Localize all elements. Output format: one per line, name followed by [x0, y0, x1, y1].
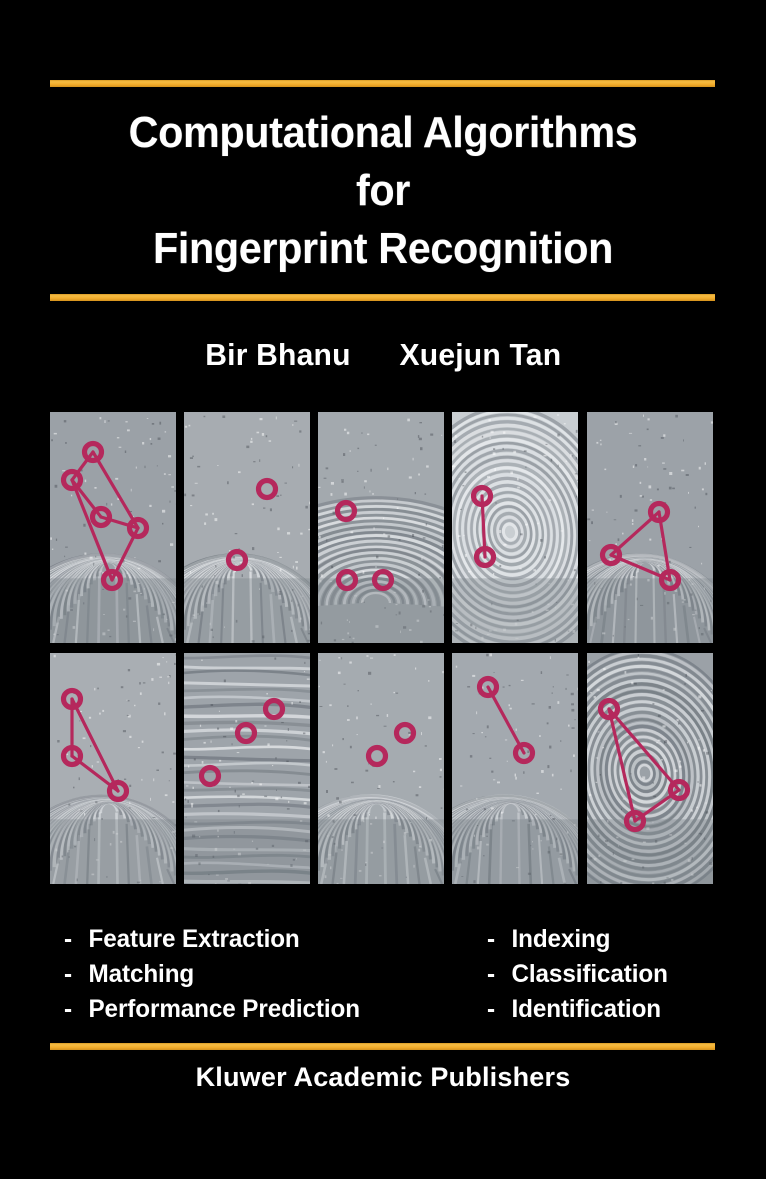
fingerprint-ridge-image: [318, 653, 444, 884]
author-line: Bir BhanuXuejun Tan: [0, 337, 766, 373]
fingerprint-panel: [184, 412, 310, 643]
topic-item: -Classification: [487, 957, 668, 992]
title-line-2: for: [23, 162, 743, 220]
fingerprint-ridge-image: [50, 653, 176, 884]
fingerprint-panel: [318, 653, 444, 884]
topic-column-right: -Indexing -Classification -Identificatio…: [487, 922, 673, 1027]
topic-item: -Performance Prediction: [64, 992, 360, 1027]
topic-item: -Feature Extraction: [64, 922, 360, 957]
fingerprint-image-grid: [50, 412, 713, 884]
topic-label: Performance Prediction: [88, 995, 359, 1023]
topic-label: Identification: [511, 995, 661, 1023]
gold-rule-bottom: [50, 1043, 715, 1050]
bullet-dash: -: [64, 925, 72, 953]
gold-rule-middle: [50, 294, 715, 301]
publisher-name: Kluwer Academic Publishers: [0, 1062, 766, 1093]
fingerprint-ridge-image: [452, 653, 578, 884]
topic-label: Classification: [511, 960, 667, 988]
fingerprint-panel: [318, 412, 444, 643]
title-line-1: Computational Algorithms: [23, 104, 743, 162]
fingerprint-ridge-image: [587, 653, 713, 884]
fingerprint-panel: [587, 653, 713, 884]
fingerprint-panel: [452, 653, 578, 884]
topic-label: Matching: [88, 960, 194, 988]
topic-label: Indexing: [511, 925, 610, 953]
bullet-dash: -: [64, 995, 72, 1023]
gold-rule-top: [50, 80, 715, 87]
fingerprint-ridge-image: [184, 412, 310, 643]
fingerprint-ridge-image: [452, 412, 578, 643]
fingerprint-ridge-image: [50, 412, 176, 643]
bullet-dash: -: [487, 925, 495, 953]
fingerprint-row-top: [50, 412, 713, 643]
fingerprint-panel: [587, 412, 713, 643]
bullet-dash: -: [487, 960, 495, 988]
fingerprint-ridge-image: [184, 653, 310, 884]
fingerprint-panel: [50, 653, 176, 884]
topic-label: Feature Extraction: [88, 925, 299, 953]
fingerprint-panel: [452, 412, 578, 643]
topic-list: -Feature Extraction -Matching -Performan…: [0, 922, 766, 1032]
title-line-3: Fingerprint Recognition: [23, 220, 743, 278]
fingerprint-ridge-image: [318, 412, 444, 643]
fingerprint-panel: [184, 653, 310, 884]
topic-item: -Matching: [64, 957, 360, 992]
topic-item: -Identification: [487, 992, 668, 1027]
topic-column-left: -Feature Extraction -Matching -Performan…: [64, 922, 369, 1027]
author-name-second: Xuejun Tan: [399, 337, 561, 373]
topic-item: -Indexing: [487, 922, 668, 957]
fingerprint-row-bottom: [50, 653, 713, 884]
book-title: Computational Algorithms for Fingerprint…: [0, 104, 766, 278]
fingerprint-ridge-image: [587, 412, 713, 643]
fingerprint-panel: [50, 412, 176, 643]
author-name-first: Bir Bhanu: [205, 337, 350, 373]
bullet-dash: -: [64, 960, 72, 988]
bullet-dash: -: [487, 995, 495, 1023]
book-cover: Computational Algorithms for Fingerprint…: [0, 0, 766, 1179]
